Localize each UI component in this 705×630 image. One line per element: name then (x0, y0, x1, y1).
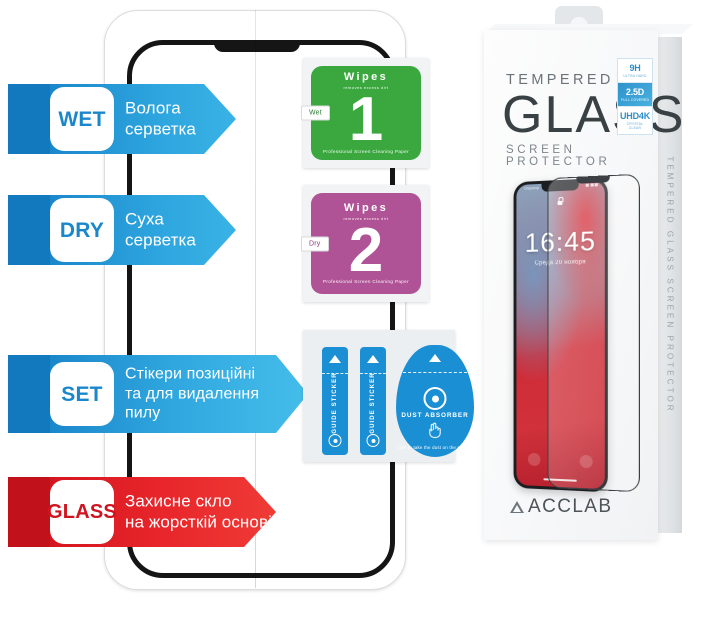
cut-line (403, 372, 467, 374)
sticker-sheet: GUIDE STICKER GUIDE STICKER DUST ABSORBE… (303, 330, 455, 462)
guide-sticker-label: GUIDE STICKER (332, 373, 338, 434)
wet-wipe-subtitle: removes excess dirt (343, 86, 388, 91)
box-spine-text: TEMPERED GLASS SCREEN PROTECTOR (666, 156, 675, 413)
dry-wipe-subtitle: removes excess dirt (343, 216, 388, 221)
step-bar-glass: GLASS Захисне скло на жорсткій основі (8, 477, 276, 547)
badge-sub: CRYSTAL CLEAR (620, 122, 650, 130)
badge-sub: FULL COVERED (620, 98, 650, 102)
sticker-sheet-face: GUIDE STICKER GUIDE STICKER DUST ABSORBE… (312, 339, 446, 453)
step-chip-label: DRY (60, 220, 104, 241)
step-chip-label: SET (61, 384, 102, 405)
dry-wipe-packet: Wipes removes excess dirt 2 Professional… (303, 185, 429, 302)
badge-uhd-4k: UHD4K CRYSTAL CLEAR (618, 107, 652, 134)
dust-absorber-label: DUST ABSORBER (396, 412, 474, 419)
step-description-glass: Захисне скло на жорсткій основі (125, 491, 272, 532)
triangle-icon (367, 355, 379, 363)
triangle-logo-icon (510, 501, 524, 513)
hand-icon (426, 421, 444, 439)
step-bar-dry: DRY Суха серветка (8, 195, 236, 265)
box-glass-text: GLASS (502, 85, 685, 145)
step-description-wet: Волога серветка (125, 98, 196, 139)
glass-protector-render (548, 174, 640, 493)
target-icon (367, 434, 380, 447)
target-icon (424, 387, 447, 410)
box-front-face: TEMPERED GLASS SCREEN PROTECTOR 9H ULTRA… (484, 30, 658, 540)
phone-notch (214, 40, 300, 52)
target-icon (329, 434, 342, 447)
dry-wipe-tab: Dry (301, 236, 329, 251)
dry-wipe-title: Wipes (344, 202, 388, 214)
phone-carrier-label: Оператор (524, 186, 539, 191)
wet-wipe-footer: Professional Screen Cleaning Paper (323, 149, 409, 154)
guide-sticker-right: GUIDE STICKER (360, 347, 386, 455)
guide-sticker-label: GUIDE STICKER (370, 373, 376, 434)
step-chip-glass: GLASS (50, 480, 114, 544)
box-screen-protector-text: SCREEN PROTECTOR (506, 144, 658, 168)
badge-main: 9H (620, 63, 650, 73)
step-chip-set: SET (50, 362, 114, 426)
step-chip-label: GLASS (47, 502, 117, 522)
guide-sticker-left: GUIDE STICKER (322, 347, 348, 455)
triangle-icon (329, 355, 341, 363)
product-image-canvas: WET Волога серветка DRY Суха серветка SE… (0, 0, 705, 630)
brand-logo: ACCLAB (510, 496, 612, 518)
retail-box: TEMPERED GLASS SCREEN PROTECTOR TEMPERED… (470, 6, 695, 546)
step-description-set: Стікери позиційні та для видалення пилу (125, 365, 259, 424)
triangle-icon (429, 354, 441, 362)
badge-2-5d: 2.5D FULL COVERED (618, 83, 652, 107)
step-chip-wet: WET (50, 87, 114, 151)
brand-name: ACCLAB (528, 496, 612, 518)
step-bar-wet: WET Волога серветка (8, 84, 236, 154)
arrow-cap (8, 477, 50, 547)
dust-absorber-sticker: DUST ABSORBER Use to take the dust on th… (396, 345, 474, 457)
badge-main: 2.5D (620, 87, 650, 97)
wet-wipe-number: 1 (349, 91, 383, 148)
badge-sub: ULTRA HARD (620, 74, 650, 78)
badge-9h: 9H ULTRA HARD (618, 59, 652, 83)
wet-wipe-tab: Wet (301, 106, 330, 121)
step-chip-dry: DRY (50, 198, 114, 262)
feature-badges: 9H ULTRA HARD 2.5D FULL COVERED UHD4K CR… (617, 58, 653, 135)
dust-absorber-footer: Use to take the dust on the screen (396, 445, 474, 450)
arrow-cap (8, 195, 50, 265)
arrow-cap (8, 355, 50, 433)
arrow-cap (8, 84, 50, 154)
wet-wipe-title: Wipes (344, 71, 388, 83)
flashlight-icon (528, 453, 541, 466)
dry-wipe-number: 2 (349, 222, 383, 279)
step-description-dry: Суха серветка (125, 209, 196, 250)
badge-main: UHD4K (620, 111, 650, 121)
step-bar-set: SET Стікери позиційні та для видалення п… (8, 355, 308, 433)
step-chip-label: WET (58, 109, 105, 130)
wet-wipe-packet: Wipes removes excess dirt 1 Professional… (303, 58, 429, 168)
dry-wipe-footer: Professional Screen Cleaning Paper (323, 279, 409, 284)
